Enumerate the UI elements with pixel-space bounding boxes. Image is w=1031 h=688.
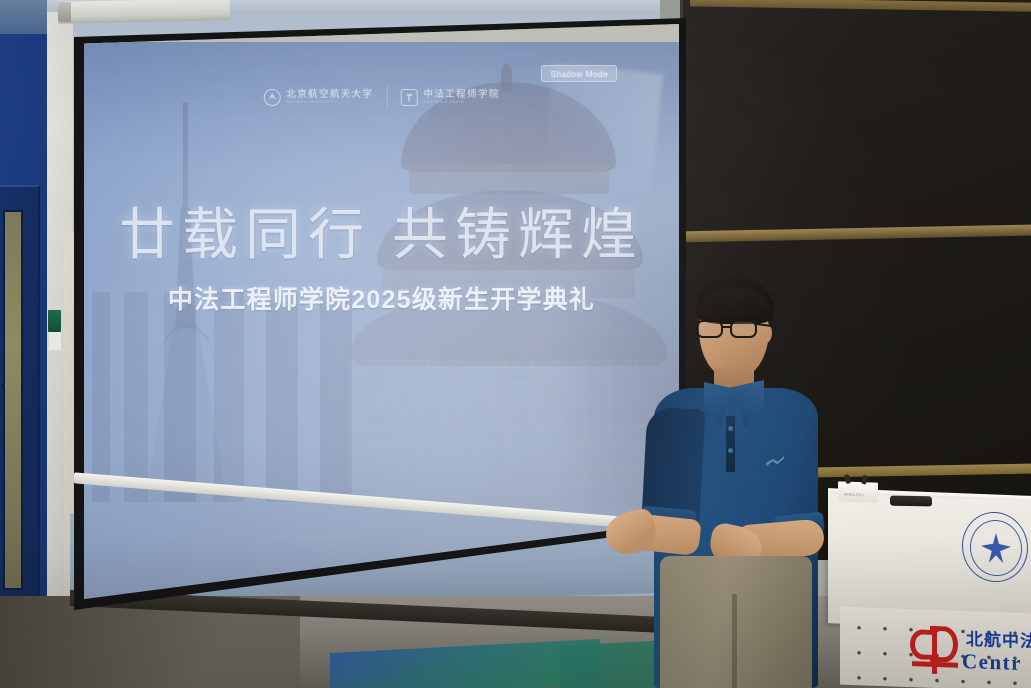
presenter-remote[interactable]: [890, 496, 932, 507]
logo-beihang-cn: 北京航空航天大学: [286, 90, 373, 100]
microphone-base-unit[interactable]: WIRELESS: [838, 481, 878, 502]
presenter-shirt-button-bottom: [728, 448, 733, 453]
door-glass-pane: [3, 210, 23, 590]
lectern-brand-en: Centr: [962, 649, 1022, 676]
wall-notice-card: [49, 332, 61, 350]
logo-beihang-en: BEIHANG UNIVERSITY: [286, 100, 373, 104]
presenter-hand-left: [602, 507, 661, 560]
presenter: [598, 276, 838, 688]
presenter-shirt-button-top: [728, 426, 733, 431]
slide-subline: 中法工程师学院2025级新生开学典礼: [168, 280, 595, 316]
eyeglasses-icon: [696, 320, 770, 338]
logo-sino-french-school: 中法工程师学院 CENTRALE PEKIN: [400, 89, 499, 106]
logo-school-cn: 中法工程师学院: [423, 90, 499, 100]
sino-french-red-logo-icon: [908, 621, 964, 679]
classroom-scene: 北京航空航天大学 BEIHANG UNIVERSITY 中法工程师学院 CENT…: [0, 0, 1031, 688]
screen-roller-housing: [58, 0, 230, 24]
microphone-label: WIRELESS: [844, 493, 864, 498]
exit-sign-icon: [48, 310, 61, 332]
logo-school-en: CENTRALE PEKIN: [423, 100, 499, 104]
slide-headline: 廿载同行 共铸辉煌: [119, 190, 644, 271]
projection-screen[interactable]: 北京航空航天大学 BEIHANG UNIVERSITY 中法工程师学院 CENT…: [84, 24, 679, 599]
presenter-shirt-placket: [726, 416, 735, 472]
slide-logo-row: 北京航空航天大学 BEIHANG UNIVERSITY 中法工程师学院 CENT…: [263, 86, 500, 108]
screen-roller-end-cap: [58, 2, 71, 22]
lectern-brand-cn: 北航中法: [966, 625, 1031, 653]
logo-divider: [386, 86, 387, 108]
blue-wall-top-trim: [0, 0, 47, 34]
microphone-icon-right: [861, 475, 868, 485]
presenter-trouser-seam: [732, 594, 737, 688]
shadow-mode-badge[interactable]: Shadow Mode: [541, 65, 617, 82]
logo-beihang-university: 北京航空航天大学 BEIHANG UNIVERSITY: [263, 89, 373, 106]
beihang-emblem-icon: [263, 89, 280, 106]
centrale-pekin-emblem-icon: [400, 89, 417, 106]
